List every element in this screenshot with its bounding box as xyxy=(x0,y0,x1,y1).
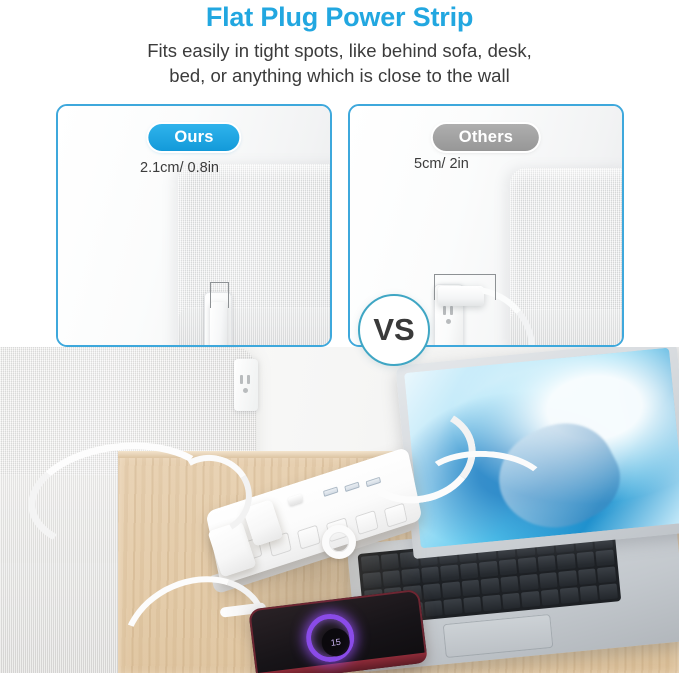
strip-outlet xyxy=(355,510,379,535)
key xyxy=(557,553,576,570)
key xyxy=(502,593,521,610)
subtitle-line-2: bed, or anything which is close to the w… xyxy=(0,63,679,88)
key xyxy=(463,597,482,614)
outlet-slot-right xyxy=(450,306,453,315)
key xyxy=(424,600,443,617)
strip-outlet xyxy=(297,525,321,550)
key xyxy=(479,561,498,578)
lifestyle-photo-scene: 15 xyxy=(0,347,679,673)
badge-ours: Ours xyxy=(148,124,239,151)
key xyxy=(539,572,558,589)
outlet-slot-left xyxy=(443,306,446,315)
subtitle-line-1: Fits easily in tight spots, like behind … xyxy=(0,38,679,63)
key xyxy=(442,581,461,598)
room-outlet-slots xyxy=(239,375,252,397)
cord-coil xyxy=(322,525,356,559)
flat-plug xyxy=(210,302,227,347)
strip-usb-port xyxy=(323,486,339,497)
room-wall-outlet xyxy=(234,359,258,411)
charging-ring-icon: 15 xyxy=(303,611,356,664)
key xyxy=(597,566,616,583)
strip-switch[interactable] xyxy=(288,494,303,506)
key xyxy=(537,555,556,572)
measurement-label-others: 5cm/ 2in xyxy=(414,156,469,172)
key xyxy=(521,591,540,608)
key xyxy=(518,557,537,574)
comparison-section: 2.1cm/ 0.8in Ours 5cm/ 2in Others VS xyxy=(56,104,624,347)
key xyxy=(541,589,560,606)
key xyxy=(596,550,615,567)
key xyxy=(560,587,579,604)
key xyxy=(500,576,519,593)
strip-outlet xyxy=(384,503,408,528)
laptop-trackpad xyxy=(443,614,554,658)
sofa-ours xyxy=(178,164,332,347)
measurement-bracket-others xyxy=(434,274,496,300)
product-infographic: Flat Plug Power Strip Fits easily in tig… xyxy=(0,0,679,673)
key xyxy=(481,578,500,595)
key xyxy=(599,583,618,600)
page-title: Flat Plug Power Strip xyxy=(0,2,679,33)
key xyxy=(499,559,518,576)
key xyxy=(443,598,462,615)
key xyxy=(440,565,459,582)
key xyxy=(461,580,480,597)
sofa-seat-ours xyxy=(178,308,332,347)
key xyxy=(520,574,539,591)
comparison-panel-ours: 2.1cm/ 0.8in Ours xyxy=(56,104,332,347)
vs-badge: VS xyxy=(358,294,430,366)
measurement-bracket-ours xyxy=(210,282,229,308)
key xyxy=(460,563,479,580)
key xyxy=(580,585,599,602)
key xyxy=(576,551,595,568)
room-slot-ground xyxy=(243,388,248,393)
key xyxy=(578,568,597,585)
badge-others: Others xyxy=(433,124,539,151)
room-slot-left xyxy=(240,375,243,384)
key xyxy=(559,570,578,587)
strip-usb-port xyxy=(344,482,360,493)
key xyxy=(482,595,501,612)
charge-level-label: 15 xyxy=(320,627,351,658)
measurement-label-ours: 2.1cm/ 0.8in xyxy=(140,160,219,176)
page-subtitle: Fits easily in tight spots, like behind … xyxy=(0,38,679,88)
outlet-slots-others xyxy=(442,306,455,328)
outlet-slot-ground xyxy=(446,319,451,324)
room-slot-right xyxy=(247,375,250,384)
